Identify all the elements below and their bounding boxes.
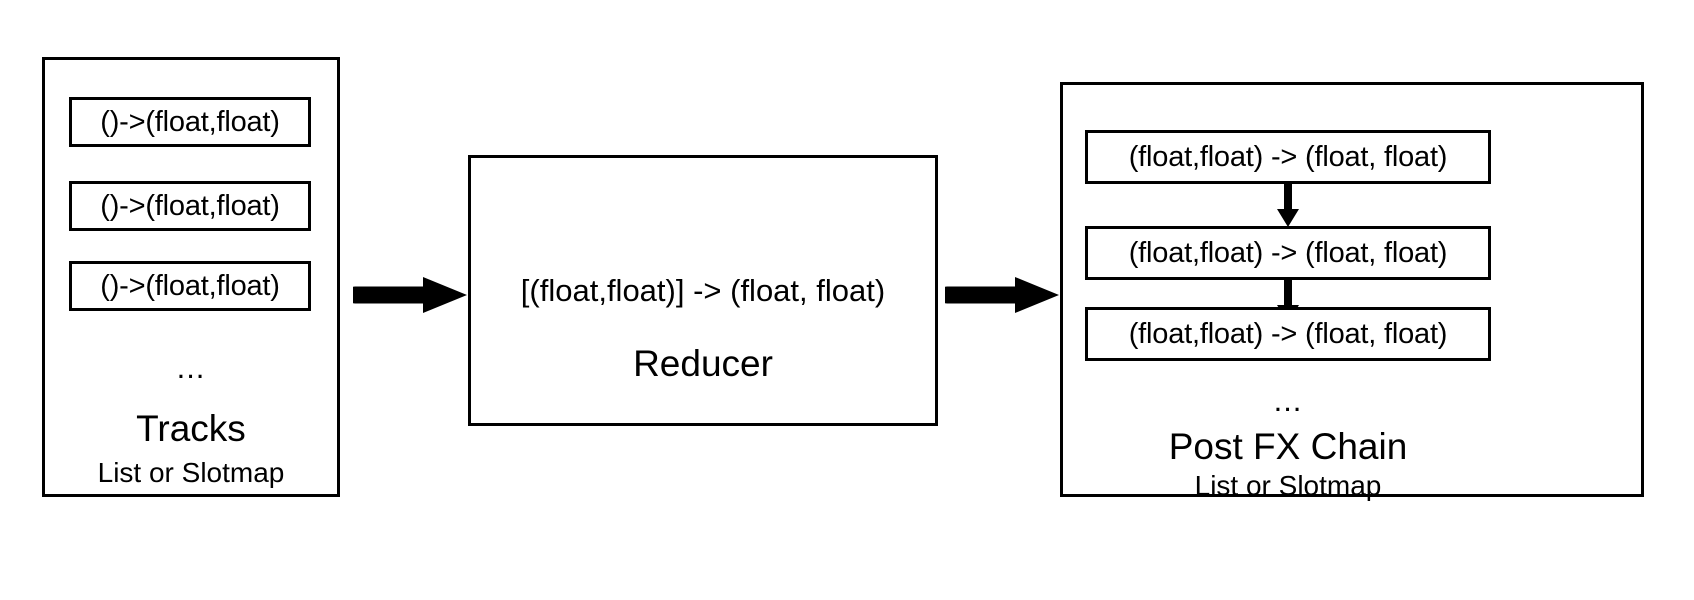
fx-chain-link-1: [1274, 183, 1302, 227]
tracks-panel-title: Tracks: [42, 410, 340, 447]
tracks-slot-2[interactable]: ()->(float,float): [69, 181, 311, 231]
post-fx-slot-1[interactable]: (float,float) -> (float, float): [1085, 130, 1491, 184]
post-fx-slot-2[interactable]: (float,float) -> (float, float): [1085, 226, 1491, 280]
post-fx-slot-1-label: (float,float) -> (float, float): [1129, 143, 1448, 172]
post-fx-slot-3-label: (float,float) -> (float, float): [1129, 320, 1448, 349]
tracks-ellipsis: ...: [42, 352, 340, 383]
tracks-panel-subtitle: List or Slotmap: [42, 459, 340, 487]
tracks-slot-3[interactable]: ()->(float,float): [69, 261, 311, 311]
reducer-signature: [(float,float)] -> (float, float): [468, 275, 938, 306]
post-fx-slot-2-label: (float,float) -> (float, float): [1129, 239, 1448, 268]
tracks-slot-2-label: ()->(float,float): [100, 192, 280, 221]
arrow-tracks-to-reducer: [353, 273, 471, 317]
tracks-slot-1[interactable]: ()->(float,float): [69, 97, 311, 147]
reducer-title: Reducer: [468, 345, 938, 382]
tracks-slot-3-label: ()->(float,float): [100, 272, 280, 301]
diagram-canvas: ()->(float,float) ()->(float,float) ()->…: [0, 0, 1694, 600]
tracks-slot-1-label: ()->(float,float): [100, 108, 280, 137]
post-fx-slot-3[interactable]: (float,float) -> (float, float): [1085, 307, 1491, 361]
post-fx-ellipsis: ...: [1085, 385, 1491, 416]
post-fx-panel-title: Post FX Chain: [1085, 428, 1491, 465]
post-fx-panel-subtitle: List or Slotmap: [1085, 472, 1491, 500]
arrow-reducer-to-postfx: [945, 273, 1063, 317]
